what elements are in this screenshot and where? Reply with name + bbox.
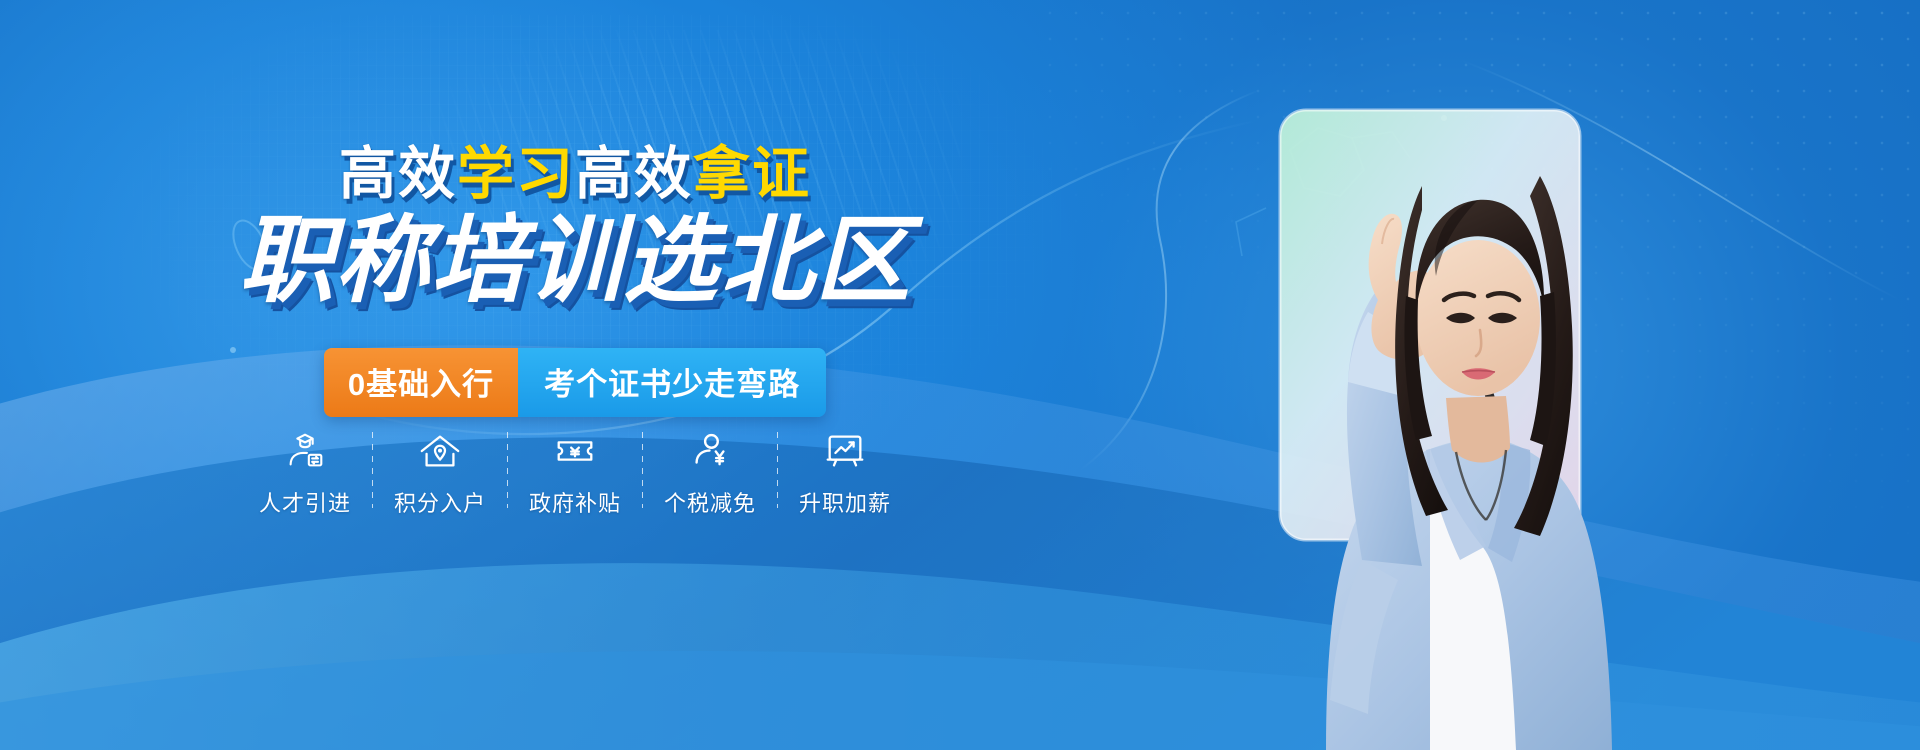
feature-label: 个税减免 — [664, 486, 756, 518]
presenter-figure — [1130, 0, 1750, 750]
subtitle-seg-1: 高效 — [339, 142, 457, 206]
subtitle-seg-3: 高效 — [575, 142, 693, 206]
feature-item-promotion: 升职加薪 — [778, 428, 912, 518]
subsidy-ticket-icon — [552, 428, 598, 474]
feature-item-subsidy: 政府补贴 — [508, 428, 642, 518]
feature-item-talent: 人才引进 — [238, 428, 372, 518]
feature-label: 升职加薪 — [799, 486, 891, 518]
subtitle-seg-2: 学习 — [457, 142, 575, 206]
feature-item-household: 积分入户 — [373, 428, 507, 518]
badge-left-label: 0基础入行 — [324, 348, 518, 417]
banner-content: 高效学习高效拿证 职称培训选北区 0基础入行 考个证书少走弯路 — [0, 0, 1150, 750]
person-yuan-icon — [687, 428, 733, 474]
headline-accent-char: 选 — [623, 208, 719, 314]
tagline-badge-row: 0基础入行 考个证书少走弯路 — [0, 348, 1150, 417]
banner-headline: 职称培训选北区 — [0, 212, 1150, 312]
growth-chart-icon — [822, 428, 868, 474]
graduate-talent-icon — [282, 428, 328, 474]
headline-accent-mark: 选 — [623, 212, 719, 312]
presenter-illustration — [1130, 0, 1750, 750]
badge-right-label: 考个证书少走弯路 — [518, 348, 826, 417]
feature-label: 人才引进 — [259, 486, 351, 518]
headline-part-2: 北区 — [719, 208, 911, 314]
house-pin-icon — [417, 428, 463, 474]
feature-item-tax: 个税减免 — [643, 428, 777, 518]
promo-banner: 高效学习高效拿证 职称培训选北区 0基础入行 考个证书少走弯路 — [0, 0, 1920, 750]
feature-label: 政府补贴 — [529, 486, 621, 518]
headline-part-1: 职称培训 — [239, 208, 623, 314]
banner-subtitle: 高效学习高效拿证 — [0, 146, 1150, 203]
feature-label: 积分入户 — [394, 486, 486, 518]
subtitle-seg-4: 拿证 — [693, 142, 811, 206]
tagline-badge: 0基础入行 考个证书少走弯路 — [324, 348, 826, 417]
feature-list: 人才引进 积分入户 — [0, 428, 1150, 518]
